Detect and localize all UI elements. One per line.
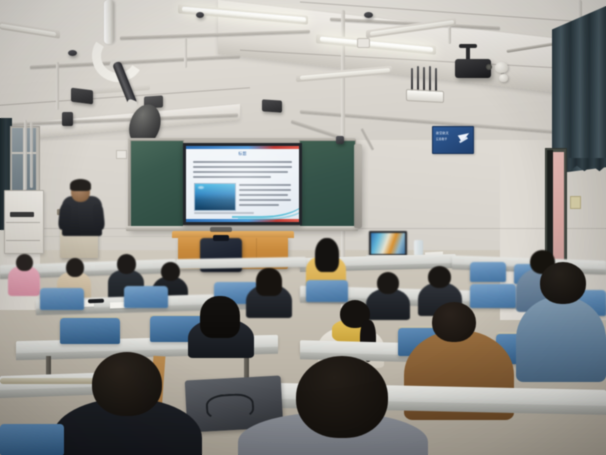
slide-text-line <box>193 166 292 168</box>
chair[interactable] <box>124 286 168 308</box>
slide-header-bar <box>186 146 299 149</box>
chair[interactable] <box>40 288 84 310</box>
chalkboard-frame-right <box>354 144 362 228</box>
desk-cable-slot <box>210 227 232 232</box>
slide-title: 标题 <box>186 151 299 157</box>
chalkboard-right-panel <box>299 140 356 230</box>
chair-rim <box>0 378 100 384</box>
slide-decoration <box>238 192 299 220</box>
cabinet-seam <box>6 222 40 223</box>
wall-speaker <box>71 88 93 105</box>
wall-pipe <box>24 120 27 190</box>
antenna <box>423 67 425 92</box>
wall-seam <box>36 236 176 237</box>
security-camera <box>499 74 508 82</box>
student-head <box>428 266 451 288</box>
wall-pipe <box>30 122 33 188</box>
ceiling-sensor <box>364 12 373 18</box>
wall-outlet[interactable] <box>116 150 127 159</box>
student-head <box>296 356 388 438</box>
slide-text-line <box>193 171 288 173</box>
slide-text-line <box>193 161 292 163</box>
student-head <box>117 254 136 274</box>
chair[interactable] <box>470 284 516 308</box>
projection-screen: 标题 <box>186 146 299 222</box>
laptop[interactable] <box>369 231 407 256</box>
plaque-text-line1: 航空航天 <box>436 131 449 135</box>
presenter-hair <box>70 179 91 191</box>
antenna <box>429 70 431 92</box>
slide-text-line <box>193 176 271 178</box>
student-head <box>16 254 33 271</box>
chair[interactable] <box>0 424 64 455</box>
screen-mount-bracket <box>336 136 344 144</box>
cabinet-seam <box>6 240 40 241</box>
student-head <box>161 262 180 281</box>
phone-on-desk[interactable] <box>88 299 104 304</box>
projector-mount <box>466 46 470 60</box>
ceiling-fixture <box>357 38 370 48</box>
projector-lens <box>486 64 492 70</box>
student-head <box>540 262 586 304</box>
chair[interactable] <box>60 318 120 344</box>
student-hair <box>200 296 240 338</box>
chair[interactable] <box>470 262 506 282</box>
antenna <box>417 66 419 92</box>
slide-photo <box>194 183 236 211</box>
lecture-hall-photo: 航空航天 实验教学 标题 <box>0 0 606 455</box>
wall-plaque: 航空航天 实验教学 <box>432 126 474 154</box>
student-head <box>432 302 476 342</box>
student-hair <box>256 268 282 296</box>
conduit-dropper <box>56 62 59 110</box>
backpack-strap <box>213 235 229 241</box>
cabinet-vent <box>10 212 34 217</box>
ceiling-sensor <box>196 12 204 18</box>
conduit-dropper <box>184 38 187 68</box>
antenna <box>435 68 437 92</box>
student-head <box>377 272 399 294</box>
chalkboard-left-panel <box>130 140 184 230</box>
wall-speaker <box>62 112 73 126</box>
chair[interactable] <box>306 280 348 302</box>
ceiling-sensor <box>68 50 77 56</box>
student-hair <box>315 238 339 272</box>
signal-jammer[interactable] <box>406 89 444 103</box>
wall-speaker <box>262 99 282 112</box>
door-sign <box>570 196 581 209</box>
laptop-display <box>371 233 405 254</box>
student-torso <box>516 296 606 382</box>
projector-mount <box>459 44 477 48</box>
student-head <box>66 258 84 277</box>
security-camera <box>495 62 508 73</box>
student-head <box>92 352 162 416</box>
plaque-text-line2: 实验教学 <box>436 138 447 142</box>
slide-photo-highlight <box>198 186 204 189</box>
